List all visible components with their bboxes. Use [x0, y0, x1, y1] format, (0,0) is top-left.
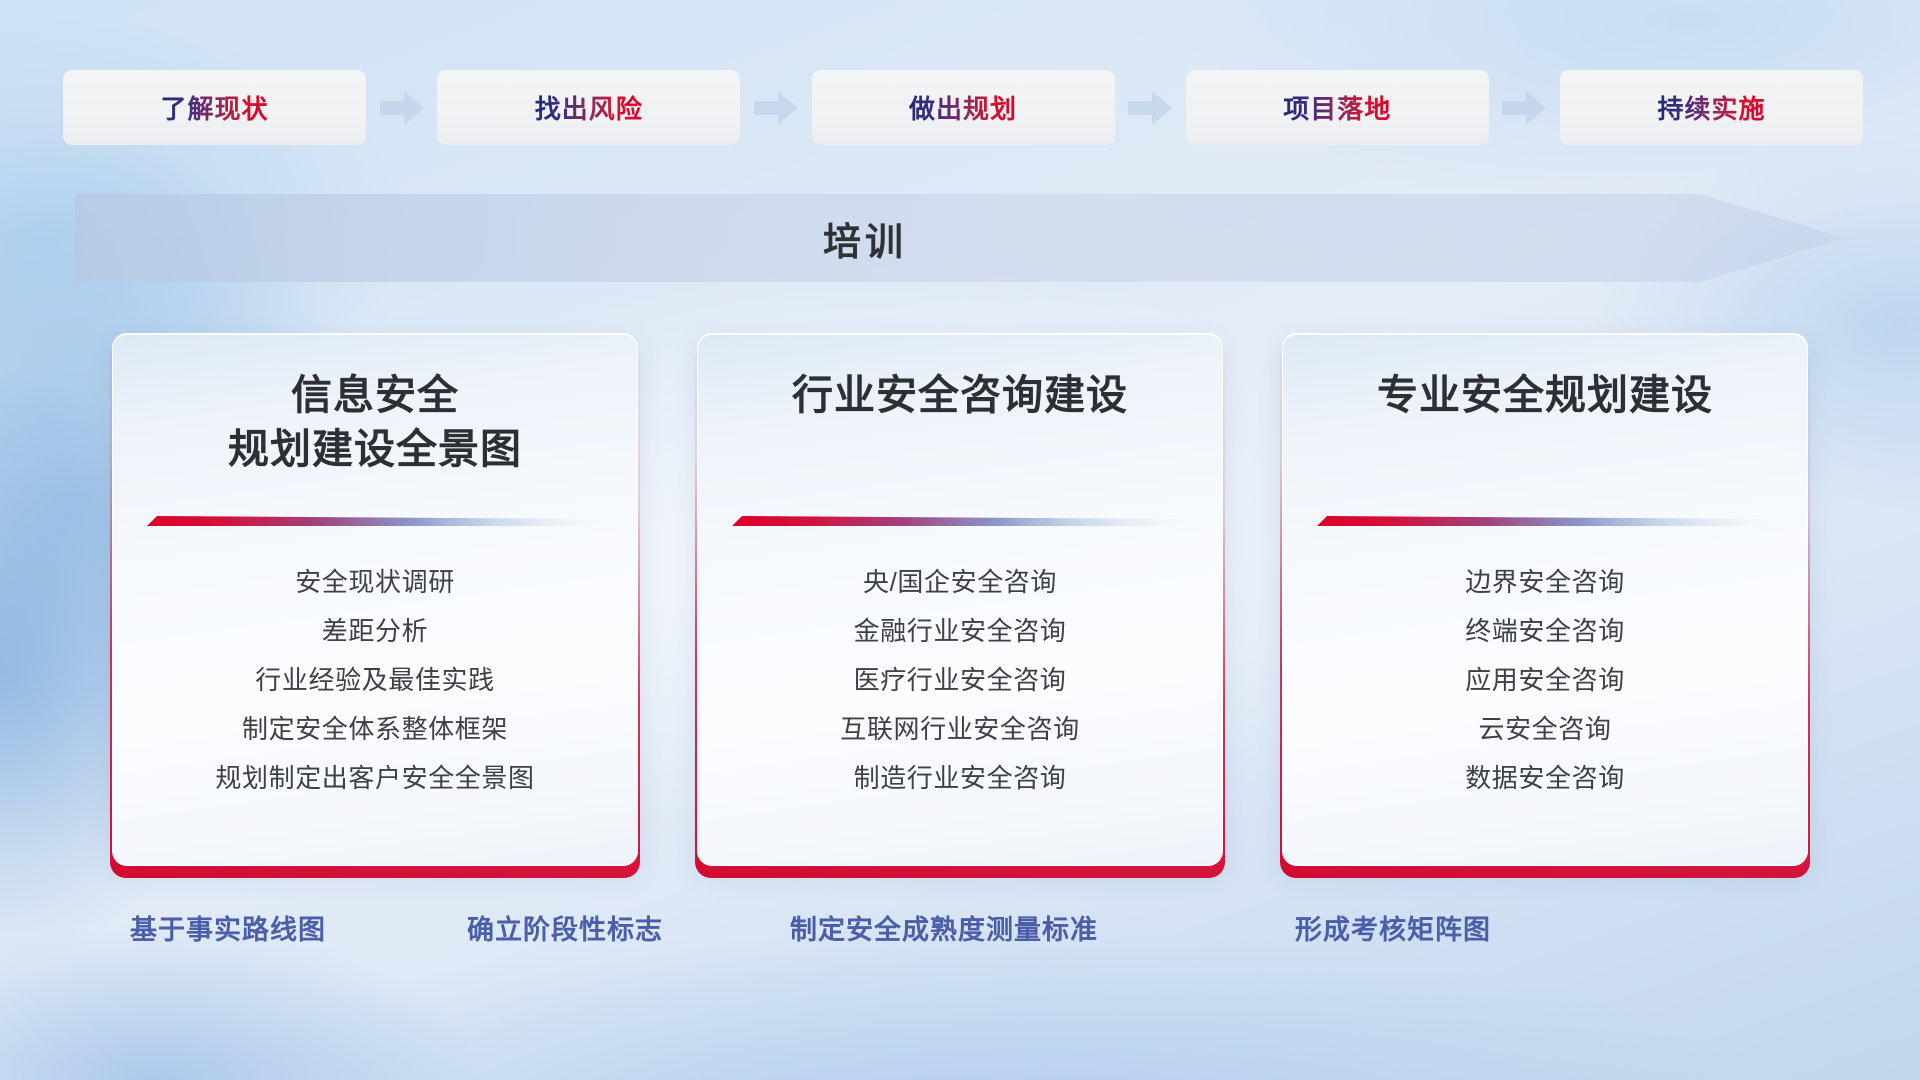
card-2-list: 央/国企安全咨询 金融行业安全咨询 医疗行业安全咨询 互联网行业安全咨询 制造行… — [698, 529, 1222, 798]
list-item: 规划制定出客户安全全景图 — [215, 759, 534, 798]
list-item: 制定安全体系整体框架 — [242, 710, 508, 749]
process-step-3[interactable]: 做出规划 — [812, 70, 1115, 145]
card-2-panel: 行业安全咨询建设 — [697, 333, 1223, 866]
footer-label-4: 形成考核矩阵图 — [1295, 908, 1491, 947]
cards-row: 信息安全 规划建设全景图 — [110, 333, 1810, 878]
card-2-title-area: 行业安全咨询建设 — [698, 334, 1222, 514]
process-step-2-label: 找出风险 — [535, 89, 643, 126]
process-step-5[interactable]: 持续实施 — [1560, 70, 1863, 145]
card-3-list: 边界安全咨询 终端安全咨询 应用安全咨询 云安全咨询 数据安全咨询 — [1283, 529, 1807, 798]
card-3-divider-area — [1283, 514, 1807, 529]
list-item: 央/国企安全咨询 — [863, 563, 1057, 602]
list-item: 边界安全咨询 — [1465, 563, 1625, 602]
footer-label-3: 制定安全成熟度测量标准 — [790, 908, 1098, 947]
footer-label-1: 基于事实路线图 — [130, 908, 326, 947]
arrow-right-icon — [1502, 91, 1546, 125]
card-1-divider-area — [113, 514, 637, 529]
list-item: 应用安全咨询 — [1465, 661, 1625, 700]
card-2-divider — [732, 514, 1188, 529]
card-1-title-area: 信息安全 规划建设全景图 — [113, 334, 637, 514]
process-step-5-label: 持续实施 — [1657, 89, 1765, 126]
process-step-4-label: 项目落地 — [1283, 89, 1391, 126]
list-item: 数据安全咨询 — [1465, 759, 1625, 798]
list-item: 差距分析 — [322, 612, 428, 651]
list-item: 云安全咨询 — [1478, 710, 1611, 749]
card-2[interactable]: 行业安全咨询建设 — [695, 333, 1225, 878]
card-3-title-area: 专业安全规划建设 — [1283, 334, 1807, 514]
process-step-4[interactable]: 项目落地 — [1186, 70, 1489, 145]
arrow-right-icon — [754, 91, 798, 125]
card-2-divider-area — [698, 514, 1222, 529]
list-item: 制造行业安全咨询 — [854, 759, 1067, 798]
process-flow: 了解现状 找出风险 做出规划 项目落地 持续实施 — [63, 70, 1863, 145]
card-2-title: 行业安全咨询建设 — [792, 368, 1128, 422]
card-3-title: 专业安全规划建设 — [1377, 368, 1713, 422]
process-step-2[interactable]: 找出风险 — [437, 70, 740, 145]
card-3-divider — [1317, 514, 1773, 529]
list-item: 互联网行业安全咨询 — [840, 710, 1079, 749]
card-1-divider — [147, 514, 603, 529]
list-item: 终端安全咨询 — [1465, 612, 1625, 651]
arrow-right-icon — [380, 91, 424, 125]
footer-label-2: 确立阶段性标志 — [467, 908, 663, 947]
banner-title: 培训 — [75, 194, 1845, 282]
footer-labels: 基于事实路线图 确立阶段性标志 制定安全成熟度测量标准 形成考核矩阵图 — [0, 908, 1920, 956]
card-3[interactable]: 专业安全规划建设 — [1280, 333, 1810, 878]
card-1-list: 安全现状调研 差距分析 行业经验及最佳实践 制定安全体系整体框架 规划制定出客户… — [113, 529, 637, 798]
training-banner: 培训 — [75, 194, 1845, 282]
list-item: 安全现状调研 — [295, 563, 455, 602]
card-1-title: 信息安全 规划建设全景图 — [228, 368, 522, 476]
process-step-1-label: 了解现状 — [160, 89, 268, 126]
list-item: 行业经验及最佳实践 — [255, 661, 494, 700]
card-1[interactable]: 信息安全 规划建设全景图 — [110, 333, 640, 878]
arrow-right-icon — [1128, 91, 1172, 125]
list-item: 金融行业安全咨询 — [854, 612, 1067, 651]
process-step-3-label: 做出规划 — [909, 89, 1017, 126]
card-1-panel: 信息安全 规划建设全景图 — [112, 333, 638, 866]
process-step-1[interactable]: 了解现状 — [63, 70, 366, 145]
card-3-panel: 专业安全规划建设 — [1282, 333, 1808, 866]
list-item: 医疗行业安全咨询 — [854, 661, 1067, 700]
